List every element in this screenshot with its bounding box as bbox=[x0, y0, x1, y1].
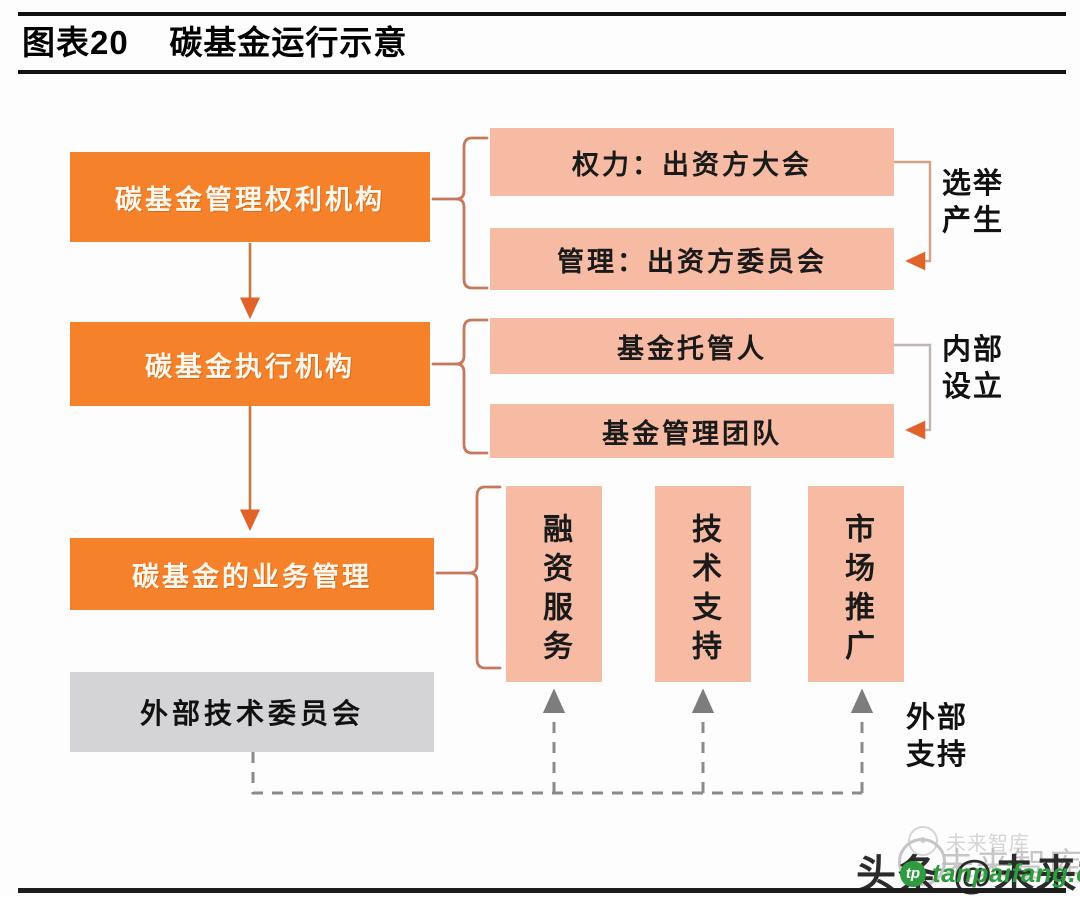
node-power-org-label: 碳基金管理权利机构 bbox=[115, 178, 385, 217]
figure-root: 图表20 碳基金运行示意 bbox=[0, 0, 1080, 896]
tanpaifang-badge-icon: tp bbox=[900, 861, 926, 887]
tanpaifang-watermark: tp tanpaifang.com bbox=[900, 858, 1080, 889]
node-power-assembly[interactable]: 权力：出资方大会 bbox=[490, 128, 894, 196]
label-internal-setup: 内部 设立 bbox=[942, 332, 1052, 406]
node-market-promotion-label: 市场推广 bbox=[834, 513, 878, 669]
node-external-tech-committee[interactable]: 外部技术委员会 bbox=[70, 672, 434, 752]
node-mgmt-committee-label: 管理：出资方委员会 bbox=[557, 240, 827, 279]
node-business-mgmt[interactable]: 碳基金的业务管理 bbox=[70, 538, 434, 610]
node-financing-service-label: 融资服务 bbox=[532, 513, 576, 669]
node-business-mgmt-label: 碳基金的业务管理 bbox=[132, 555, 372, 594]
node-fund-mgmt-team-label: 基金管理团队 bbox=[602, 412, 782, 451]
node-market-promotion[interactable]: 市场推广 bbox=[808, 486, 904, 682]
tanpaifang-site-name: tanpaifang.com bbox=[932, 858, 1080, 889]
node-exec-org[interactable]: 碳基金执行机构 bbox=[70, 322, 430, 406]
node-mgmt-committee[interactable]: 管理：出资方委员会 bbox=[490, 228, 894, 290]
elbow-elect-generate bbox=[893, 162, 930, 261]
node-fund-custodian[interactable]: 基金托管人 bbox=[490, 318, 894, 374]
node-tech-support-label: 技术支持 bbox=[681, 513, 725, 669]
node-power-org[interactable]: 碳基金管理权利机构 bbox=[70, 152, 430, 242]
node-external-tech-committee-label: 外部技术委员会 bbox=[140, 692, 364, 732]
brace-power-group bbox=[433, 138, 487, 288]
bottom-rule bbox=[18, 888, 1066, 893]
brace-exec-group bbox=[433, 320, 487, 453]
node-fund-custodian-label: 基金托管人 bbox=[617, 327, 767, 366]
elbow-internal-setup bbox=[893, 345, 930, 430]
label-elect-generate: 选举 产生 bbox=[942, 166, 1052, 240]
title-rule-top bbox=[18, 12, 1066, 16]
page-title: 图表20 碳基金运行示意 bbox=[22, 18, 407, 68]
node-financing-service[interactable]: 融资服务 bbox=[506, 486, 602, 682]
brace-business-group bbox=[437, 487, 500, 668]
title-rule-bottom bbox=[18, 70, 1066, 74]
node-power-assembly-label: 权力：出资方大会 bbox=[572, 143, 812, 182]
node-tech-support[interactable]: 技术支持 bbox=[655, 486, 751, 682]
node-exec-org-label: 碳基金执行机构 bbox=[145, 345, 355, 384]
label-external-support: 外部 支持 bbox=[906, 700, 1026, 774]
node-fund-mgmt-team[interactable]: 基金管理团队 bbox=[490, 404, 894, 458]
